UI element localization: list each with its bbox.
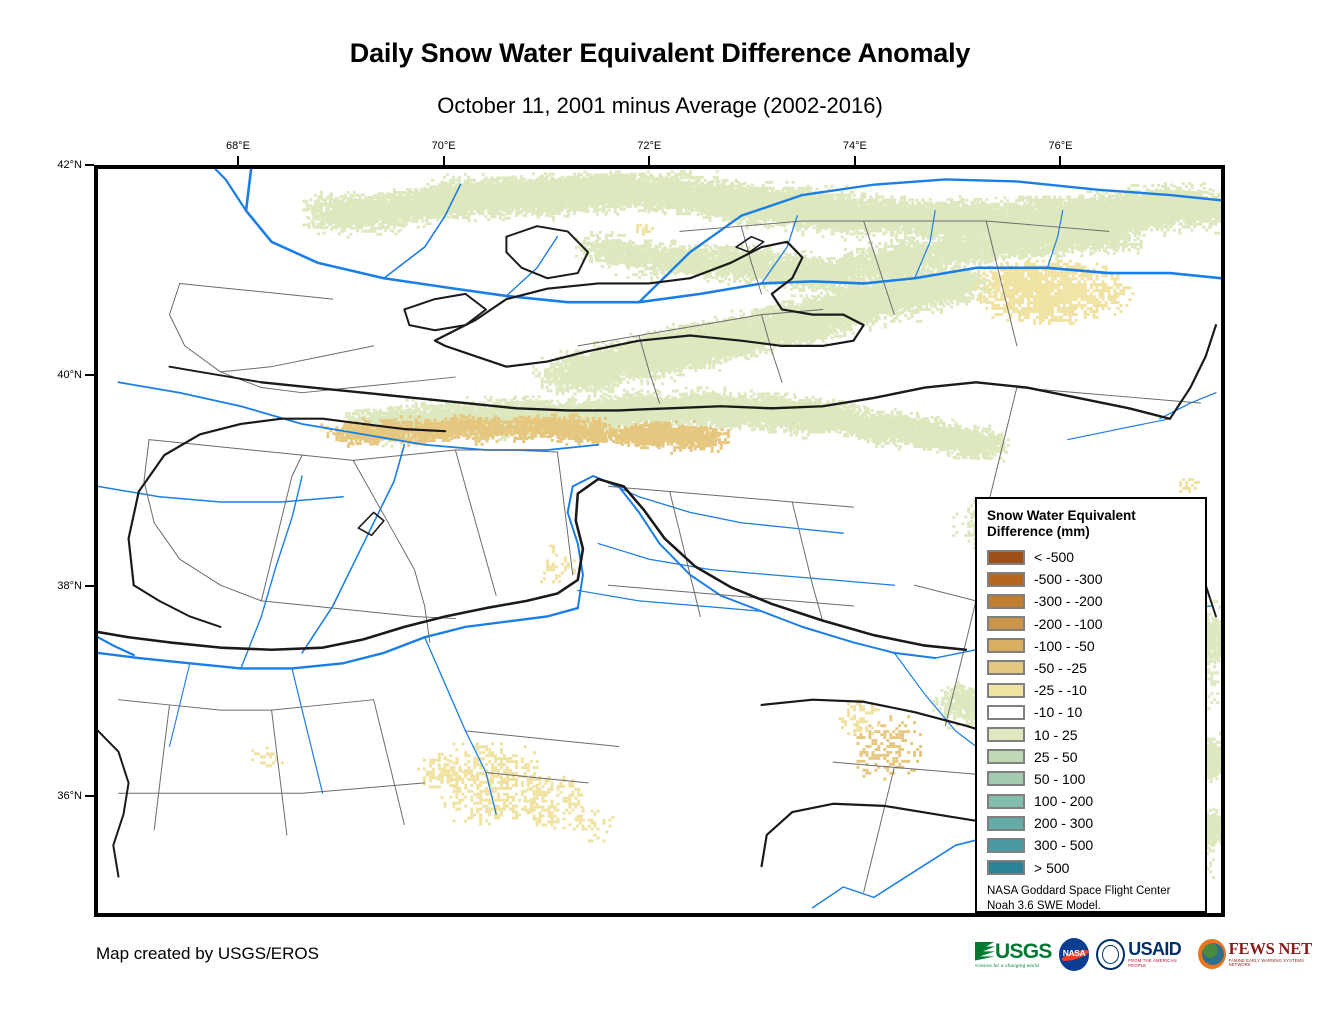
legend-row: -25 - -10 — [987, 679, 1195, 701]
legend-row: -200 - -100 — [987, 613, 1195, 635]
boundary-sw-edge — [98, 731, 129, 877]
longitude-label: 72°E — [637, 140, 661, 152]
legend-swatch — [987, 594, 1025, 609]
legend-label: -100 - -50 — [1034, 638, 1095, 654]
legend-label: < -500 — [1034, 549, 1074, 565]
longitude-label: 68°E — [226, 140, 250, 152]
legend-class-list: < -500-500 - -300-300 - -200-200 - -100-… — [987, 546, 1195, 879]
map-legend: Snow Water Equivalent Difference (mm) < … — [975, 497, 1207, 913]
fews-wordmark: FEWS NET — [1229, 941, 1320, 958]
legend-title-line1: Snow Water Equivalent — [987, 508, 1195, 524]
river-east-trib — [1068, 419, 1170, 440]
usgs-wordmark: USGS — [995, 941, 1052, 962]
river-balkh — [292, 668, 323, 793]
latitude-tick — [85, 164, 94, 166]
admin-boundary — [608, 486, 853, 507]
fews-net-logo: FEWS NET FAMINE EARLY WARNING SYSTEMS NE… — [1198, 939, 1320, 969]
admin-boundary — [864, 767, 895, 892]
nasa-logo: NASA — [1059, 938, 1090, 971]
legend-row: -50 - -25 — [987, 657, 1195, 679]
latitude-tick — [85, 795, 94, 797]
admin-boundary — [144, 440, 261, 601]
river-amu-darya-west — [98, 637, 134, 655]
legend-label: -50 - -25 — [1034, 660, 1087, 676]
legend-swatch — [987, 749, 1025, 764]
boundary-tajik-sw — [134, 585, 221, 627]
longitude-label: 76°E — [1048, 140, 1072, 152]
boundary-kyrgyz-east — [1170, 325, 1216, 419]
latitude-label: 40°N — [42, 369, 82, 381]
admin-boundary — [169, 283, 302, 392]
boundary-sliver-2 — [358, 512, 384, 535]
fews-globe-icon — [1198, 939, 1226, 969]
river-branch-nw — [215, 169, 246, 211]
river-bartang — [593, 476, 843, 533]
legend-swatch — [987, 705, 1025, 720]
latitude-tick — [85, 374, 94, 376]
page-title: Daily Snow Water Equivalent Difference A… — [0, 38, 1320, 69]
longitude-tick — [854, 156, 856, 165]
legend-row: 10 - 25 — [987, 723, 1195, 745]
river-kashgar — [1160, 393, 1216, 419]
usaid-logo: USAID FROM THE AMERICAN PEOPLE — [1096, 939, 1191, 970]
legend-label: -200 - -100 — [1034, 616, 1102, 632]
legend-swatch — [987, 838, 1025, 853]
admin-boundary — [557, 452, 572, 575]
boundary-panj-amu — [98, 479, 966, 650]
legend-row: -100 - -50 — [987, 635, 1195, 657]
legend-swatch — [987, 816, 1025, 831]
admin-boundary — [302, 377, 455, 393]
river-kashka-darya — [98, 486, 343, 502]
admin-boundary — [118, 700, 373, 710]
admin-boundary — [374, 700, 405, 825]
legend-row: > 500 — [987, 857, 1195, 879]
fews-tagline: FAMINE EARLY WARNING SYSTEMS NETWORK — [1229, 959, 1320, 967]
latitude-label: 36°N — [42, 790, 82, 802]
legend-title: Snow Water Equivalent Difference (mm) — [987, 508, 1195, 541]
admin-boundary — [792, 502, 823, 622]
legend-swatch — [987, 550, 1025, 565]
usgs-wave-icon — [975, 942, 995, 961]
legend-label: -25 - -10 — [1034, 682, 1087, 698]
legend-row: 25 - 50 — [987, 746, 1195, 768]
legend-row: 200 - 300 — [987, 812, 1195, 834]
legend-swatch — [987, 638, 1025, 653]
legend-swatch — [987, 727, 1025, 742]
river-indus-branch — [813, 887, 874, 908]
admin-boundary — [221, 346, 374, 372]
latitude-label: 42°N — [42, 159, 82, 171]
legend-label: > 500 — [1034, 860, 1069, 876]
legend-label: -500 - -300 — [1034, 571, 1102, 587]
legend-swatch — [987, 660, 1025, 675]
legend-label: 50 - 100 — [1034, 771, 1085, 787]
admin-boundary — [154, 705, 169, 830]
legend-swatch — [987, 683, 1025, 698]
longitude-label: 70°E — [432, 140, 456, 152]
longitude-tick — [443, 156, 445, 165]
longitude-tick — [648, 156, 650, 165]
agency-logo-row: USGS science for a changing world NASA U… — [975, 934, 1320, 974]
river-murghab — [598, 544, 894, 586]
admin-boundary — [180, 283, 333, 299]
page-subtitle: October 11, 2001 minus Average (2002-201… — [0, 93, 1320, 119]
legend-row: < -500 — [987, 546, 1195, 568]
legend-swatch — [987, 771, 1025, 786]
legend-label: -300 - -200 — [1034, 593, 1102, 609]
river-amu-darya — [98, 608, 578, 668]
usgs-logo: USGS science for a changing world — [975, 941, 1052, 968]
admin-boundary — [149, 440, 353, 461]
legend-swatch — [987, 616, 1025, 631]
legend-label: 200 - 300 — [1034, 815, 1093, 831]
river-kafirnigan — [241, 476, 302, 668]
legend-swatch — [987, 572, 1025, 587]
admin-boundary — [118, 783, 424, 793]
nasa-wordmark: NASA — [1059, 948, 1090, 958]
legend-row: -500 - -300 — [987, 568, 1195, 590]
legend-row: -300 - -200 — [987, 590, 1195, 612]
legend-row: 300 - 500 — [987, 834, 1195, 856]
admin-boundary — [261, 455, 302, 601]
legend-title-line2: Difference (mm) — [987, 524, 1195, 540]
legend-source: NASA Goddard Space Flight Center Noah 3.… — [987, 884, 1195, 914]
legend-swatch — [987, 860, 1025, 875]
legend-swatch — [987, 794, 1025, 809]
longitude-label: 74°E — [843, 140, 867, 152]
latitude-label: 38°N — [42, 580, 82, 592]
latitude-tick — [85, 585, 94, 587]
boundary-enclave-nw — [404, 294, 486, 330]
legend-label: -10 - 10 — [1034, 704, 1082, 720]
admin-boundary — [272, 710, 287, 835]
admin-boundary — [465, 731, 618, 747]
legend-source-line2: Noah 3.6 SWE Model. — [987, 899, 1195, 914]
usaid-wordmark: USAID — [1128, 940, 1191, 958]
legend-row: -10 - 10 — [987, 701, 1195, 723]
river-angren — [506, 237, 557, 296]
usaid-seal-icon — [1096, 939, 1125, 970]
legend-label: 25 - 50 — [1034, 749, 1078, 765]
legend-label: 10 - 25 — [1034, 727, 1078, 743]
admin-boundary — [455, 450, 496, 596]
legend-source-line1: NASA Goddard Space Flight Center — [987, 884, 1195, 899]
longitude-tick — [237, 156, 239, 165]
river-panj — [568, 476, 935, 658]
legend-label: 300 - 500 — [1034, 837, 1093, 853]
usgs-tagline: science for a changing world — [975, 963, 1052, 968]
river-vakhsh — [302, 445, 404, 653]
map-credit: Map created by USGS/EROS — [96, 944, 319, 964]
usaid-tagline: FROM THE AMERICAN PEOPLE — [1128, 959, 1191, 968]
longitude-tick — [1059, 156, 1061, 165]
legend-label: 100 - 200 — [1034, 793, 1093, 809]
legend-row: 100 - 200 — [987, 790, 1195, 812]
legend-row: 50 - 100 — [987, 768, 1195, 790]
